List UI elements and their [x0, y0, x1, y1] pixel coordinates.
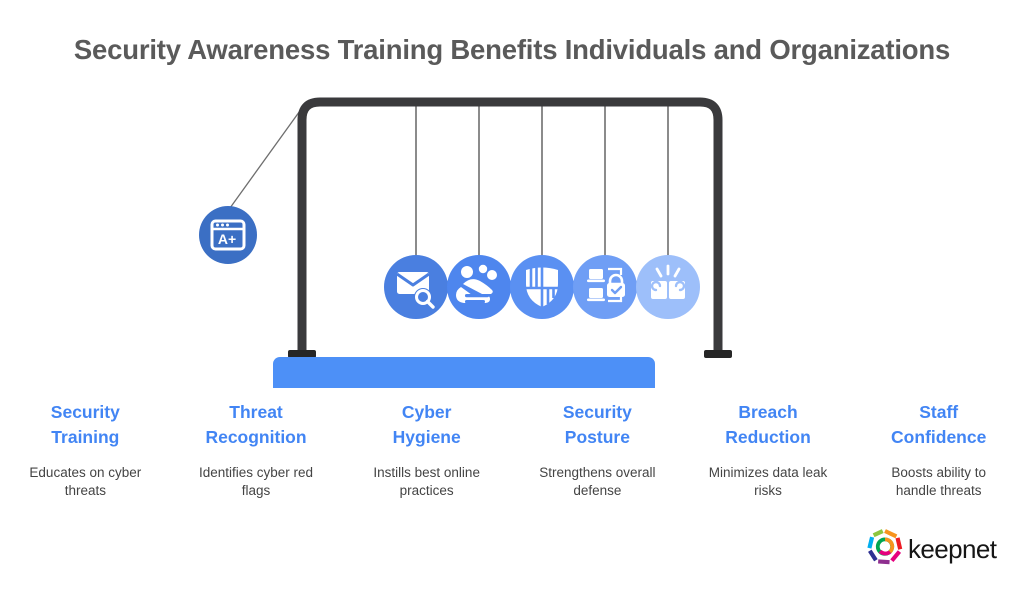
keepnet-logo: keepnet	[866, 527, 996, 571]
benefit-title: Threat Recognition	[179, 400, 334, 450]
benefit-column-cyber-hygiene: Cyber Hygiene Instills best online pract…	[341, 400, 512, 501]
ball-security-training[interactable]: A+	[199, 206, 257, 264]
benefit-title: Staff Confidence	[861, 400, 1016, 450]
benefit-title: Security Posture	[520, 400, 675, 450]
benefit-column-threat-recognition: Threat Recognition Identifies cyber red …	[171, 400, 342, 501]
benefit-column-security-training: Security Training Educates on cyber thre…	[0, 400, 171, 501]
benefit-description: Instills best online practices	[349, 464, 504, 501]
ball-threat-recognition[interactable]	[384, 255, 448, 319]
benefit-column-breach-reduction: Breach Reduction Minimizes data leak ris…	[683, 400, 854, 501]
benefit-column-staff-confidence: Staff Confidence Boosts ability to handl…	[853, 400, 1024, 501]
benefit-description: Strengthens overall defense	[520, 464, 675, 501]
ball-cyber-hygiene[interactable]	[447, 255, 511, 319]
frame-foot-right	[704, 350, 732, 358]
cradle-base	[273, 357, 655, 388]
benefit-description: Boosts ability to handle threats	[861, 464, 1016, 501]
ball-security-posture[interactable]	[510, 255, 574, 319]
keepnet-wordmark: keepnet	[908, 536, 996, 562]
pendulum-strings	[230, 104, 668, 260]
page-title: Security Awareness Training Benefits Ind…	[0, 34, 1024, 66]
frame-foot-left	[288, 350, 316, 358]
keepnet-hexagon-swirl-logo	[866, 528, 904, 571]
benefit-title: Breach Reduction	[691, 400, 846, 450]
ball-breach-reduction[interactable]	[573, 255, 637, 319]
cradle-frame	[288, 102, 732, 358]
benefit-description: Educates on cyber threats	[8, 464, 163, 501]
ball-staff-confidence[interactable]	[636, 255, 700, 319]
svg-text:A+: A+	[218, 231, 236, 247]
benefit-columns: Security Training Educates on cyber thre…	[0, 400, 1024, 501]
benefit-title: Cyber Hygiene	[349, 400, 504, 450]
benefit-description: Minimizes data leak risks	[691, 464, 846, 501]
newtons-cradle-illustration: A+	[180, 88, 760, 388]
benefit-column-security-posture: Security Posture Strengthens overall def…	[512, 400, 683, 501]
string-0	[230, 108, 302, 208]
benefit-description: Identifies cyber red flags	[179, 464, 334, 501]
benefit-title: Security Training	[8, 400, 163, 450]
